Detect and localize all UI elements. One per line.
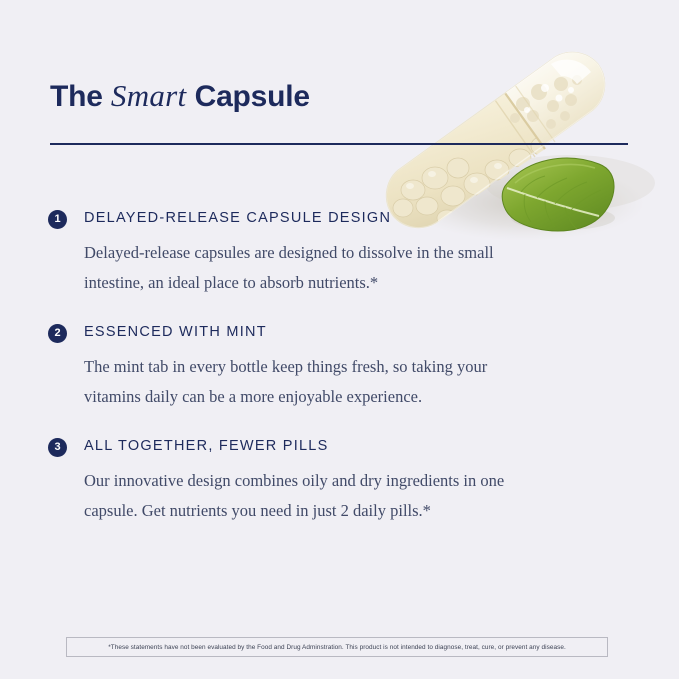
capsule-body: [386, 52, 604, 227]
feature-heading: ALL TOGETHER, FEWER PILLS: [84, 436, 568, 456]
list-item: 2 ESSENCED WITH MINT The mint tab in eve…: [48, 322, 568, 412]
list-item: 3 ALL TOGETHER, FEWER PILLS Our innovati…: [48, 436, 568, 526]
promotional-panel: The Smart Capsule 1 DELAYED-RELEASE CAPS…: [0, 0, 679, 679]
feature-body: The mint tab in every bottle keep things…: [84, 352, 529, 412]
feature-number-badge: 3: [48, 438, 67, 457]
page-title: The Smart Capsule: [50, 76, 310, 117]
feature-list: 1 DELAYED-RELEASE CAPSULE DESIGN Delayed…: [48, 208, 568, 526]
feature-number-badge: 1: [48, 210, 67, 229]
title-divider: [50, 143, 628, 145]
disclaimer-box: *These statements have not been evaluate…: [66, 637, 608, 657]
title-part-1: The: [50, 80, 103, 113]
feature-body: Our innovative design combines oily and …: [84, 466, 529, 526]
disclaimer-text: *These statements have not been evaluate…: [108, 643, 566, 652]
feature-number-badge: 2: [48, 324, 67, 343]
feature-heading: DELAYED-RELEASE CAPSULE DESIGN: [84, 208, 568, 228]
capsule-upper-half: [505, 52, 605, 149]
feature-body: Delayed-release capsules are designed to…: [84, 238, 529, 298]
capsule-shadow-core: [485, 155, 655, 211]
title-part-2: Capsule: [195, 80, 310, 113]
title-emphasis-smart: Smart: [111, 78, 187, 113]
feature-heading: ESSENCED WITH MINT: [84, 322, 568, 342]
list-item: 1 DELAYED-RELEASE CAPSULE DESIGN Delayed…: [48, 208, 568, 298]
